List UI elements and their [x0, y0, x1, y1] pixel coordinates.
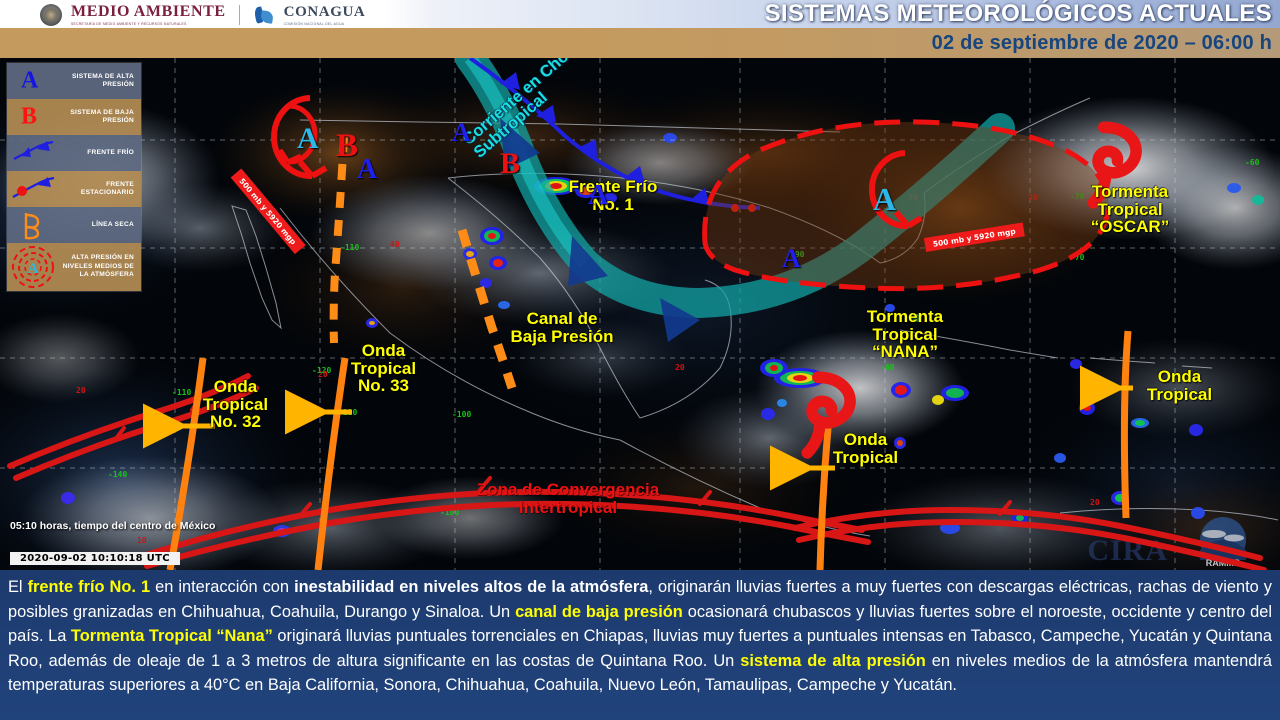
conagua-subtitle: COMISIÓN NACIONAL DEL AGUA [284, 22, 366, 26]
svg-text:A: A [28, 261, 39, 277]
legend-label: LÍNEA SECA [57, 221, 137, 230]
timestamp-local: 05:10 horas, tiempo del centro de México [10, 520, 215, 533]
label-onda-tropical-33: Onda Tropical No. 33 [336, 342, 431, 395]
timestamp-utc: 2020-09-02 10:10:18 UTC [10, 552, 180, 565]
page-date: 02 de septiembre de 2020 – 06:00 h [932, 29, 1272, 57]
text-segment-emphasis: Tormenta Tropical “Nana” [71, 627, 273, 645]
mexico-eagle-seal-icon [40, 4, 62, 26]
logo-divider [239, 5, 240, 25]
legend-label: FRENTE ESTACIONARIO [57, 181, 137, 198]
text-segment-emphasis: frente frío No. 1 [28, 578, 151, 596]
medio-ambiente-subtitle: SECRETARÍA DE MEDIO AMBIENTE Y RECURSOS … [71, 22, 226, 26]
label-frente-frio-1: Frente Frío No. 1 [533, 178, 693, 213]
legend-item-alta-presion: A SISTEMA DE ALTA PRESIÓN [7, 63, 141, 99]
text-segment-emphasis: canal de baja presión [515, 603, 683, 621]
page-title: SISTEMAS METEOROLÓGICOS ACTUALES [765, 1, 1272, 27]
high-a-golfo: A [588, 180, 608, 212]
tropical-wave-east [1090, 331, 1133, 518]
legend-label: FRENTE FRÍO [57, 149, 137, 158]
label-zcit: Zona de Convergencia Intertropical [448, 481, 688, 516]
text-segment: en interacción con [150, 578, 294, 596]
dry-line-icon [9, 207, 57, 243]
label-onda-tropical-centro: Onda Tropical [818, 431, 913, 466]
legend-item-linea-seca: LÍNEA SECA [7, 207, 141, 243]
dry-line-trough [334, 136, 344, 343]
mid-level-high-southeast [705, 122, 1109, 289]
conagua-wave-icon [253, 5, 275, 25]
high-a-baja-california: A [297, 122, 319, 156]
forecast-summary-panel: El frente frío No. 1 en interacción con … [0, 570, 1280, 720]
low-b-noroeste: B [336, 128, 358, 165]
text-segment-emphasis: sistema de alta presión [740, 652, 926, 670]
text-segment: El [8, 578, 28, 596]
label-tormenta-oscar: Tormenta Tropical “OSCAR” [1060, 183, 1200, 236]
legend-item-alta-niveles-medios: A ALTA PRESIÓN EN NIVELES MEDIOS DE LA A… [7, 243, 141, 291]
high-a-sureste: A [782, 244, 801, 274]
text-segment-emphasis: inestabilidad en niveles altos de la atm… [294, 578, 648, 596]
page-header: MEDIO AMBIENTE SECRETARÍA DE MEDIO AMBIE… [0, 0, 1280, 58]
cold-front-icon [9, 135, 57, 171]
low-b-texas: A [452, 118, 471, 148]
low-pressure-trough-center [462, 230, 512, 388]
legend-label: SISTEMA DE ALTA PRESIÓN [57, 73, 137, 90]
satellite-map: -110 -120 -100 -100 -110 -110 -90 -80 -7… [0, 58, 1280, 570]
forecast-summary-text: El frente frío No. 1 en interacción con … [8, 575, 1272, 698]
legend-item-frente-frio: FRENTE FRÍO [7, 135, 141, 171]
map-legend: A SISTEMA DE ALTA PRESIÓN B SISTEMA DE B… [6, 62, 142, 292]
label-onda-tropical-este: Onda Tropical [1132, 368, 1227, 403]
legend-item-frente-estacionario: FRENTE ESTACIONARIO [7, 171, 141, 207]
conagua-title: CONAGUA [284, 5, 366, 20]
label-onda-tropical-32: Onda Tropical No. 32 [188, 378, 283, 431]
low-b-golfo: B [500, 147, 520, 181]
mid-level-high-icon: A [9, 243, 57, 291]
stationary-front-icon [9, 171, 57, 207]
medio-ambiente-title: MEDIO AMBIENTE [71, 4, 226, 20]
high-a-florida: A [873, 181, 896, 218]
letter-b-red-icon: B [9, 99, 57, 135]
legend-label: ALTA PRESIÓN EN NIVELES MEDIOS DE LA ATM… [57, 254, 137, 280]
legend-item-baja-presion: B SISTEMA DE BAJA PRESIÓN [7, 99, 141, 135]
label-tormenta-nana: Tormenta Tropical “NANA” [840, 308, 970, 361]
letter-a-blue-icon: A [9, 63, 57, 99]
label-canal-baja-presion: Canal de Baja Presión [482, 310, 642, 345]
legend-label: SISTEMA DE BAJA PRESIÓN [57, 109, 137, 126]
government-logos: MEDIO AMBIENTE SECRETARÍA DE MEDIO AMBIE… [40, 2, 365, 28]
high-a-sonora: A [357, 154, 377, 186]
